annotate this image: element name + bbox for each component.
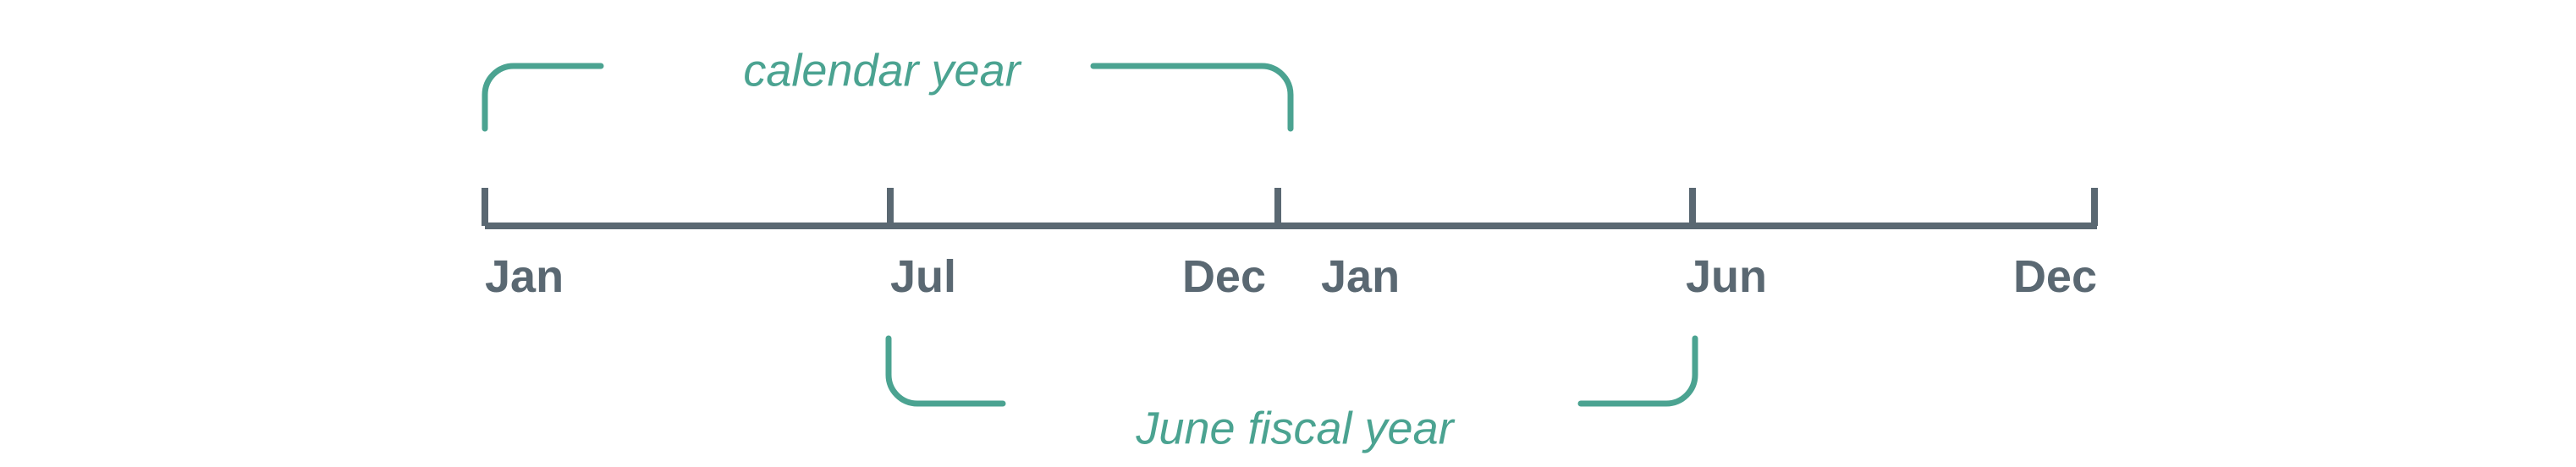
bracket-june-fiscal-year-left-arm [889, 338, 1003, 404]
axis-tick-group [485, 188, 2094, 226]
bracket-calendar-year-right-arm [1093, 66, 1291, 129]
axis-month-label: Jul [890, 251, 956, 302]
axis-month-label: Jun [1686, 251, 1767, 302]
axis-month-label: Dec [1182, 251, 1266, 302]
axis-month-label: Jan [1321, 251, 1400, 302]
bracket-calendar-year-left-arm [485, 66, 601, 129]
bracket-june-fiscal-year: June fiscal year [889, 338, 1695, 453]
axis-month-label: Jan [485, 251, 564, 302]
timeline-axis [485, 188, 2097, 226]
axis-month-label: Dec [2013, 251, 2097, 302]
bracket-june-fiscal-year-label: June fiscal year [1135, 403, 1455, 453]
bracket-june-fiscal-year-right-arm [1581, 338, 1695, 404]
timeline-diagram: calendar year JanJulDecJanJunDec June fi… [0, 0, 2576, 467]
bracket-calendar-year-label: calendar year [743, 45, 1021, 96]
bracket-calendar-year: calendar year [485, 45, 1291, 129]
axis-label-group: JanJulDecJanJunDec [485, 251, 2097, 302]
timeline-canvas: calendar year JanJulDecJanJunDec June fi… [0, 0, 2576, 467]
